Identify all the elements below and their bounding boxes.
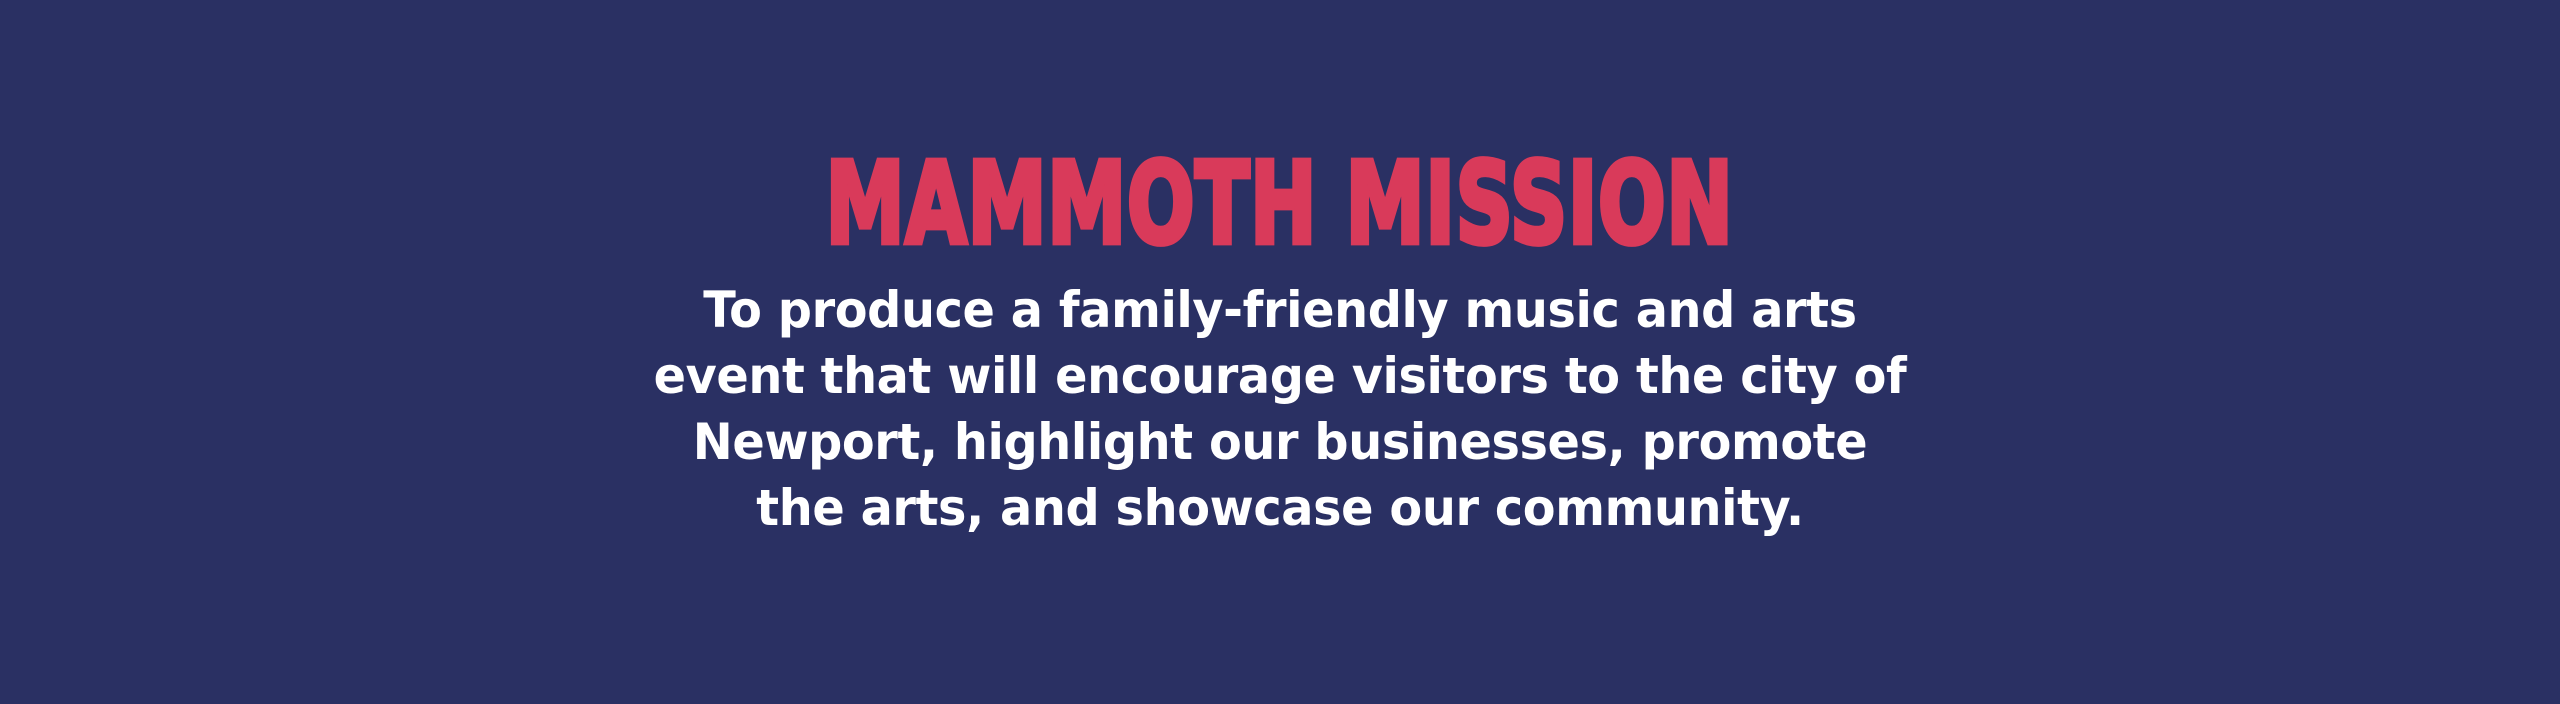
mission-statement: To produce a family-friendly music and a… — [0, 277, 2560, 541]
mission-statement-line: event that will encourage visitors to th… — [58, 343, 2503, 409]
mission-statement-line: To produce a family-friendly music and a… — [58, 277, 2503, 343]
mission-statement-line: the arts, and showcase our community. — [58, 475, 2503, 541]
page-title: MAMMOTH MISSION — [0, 150, 2560, 256]
mission-statement-line: Newport, highlight our businesses, promo… — [58, 409, 2503, 475]
mission-heading: MAMMOTH MISSION — [826, 150, 1734, 260]
mission-banner: MAMMOTH MISSION To produce a family-frie… — [0, 0, 2560, 704]
